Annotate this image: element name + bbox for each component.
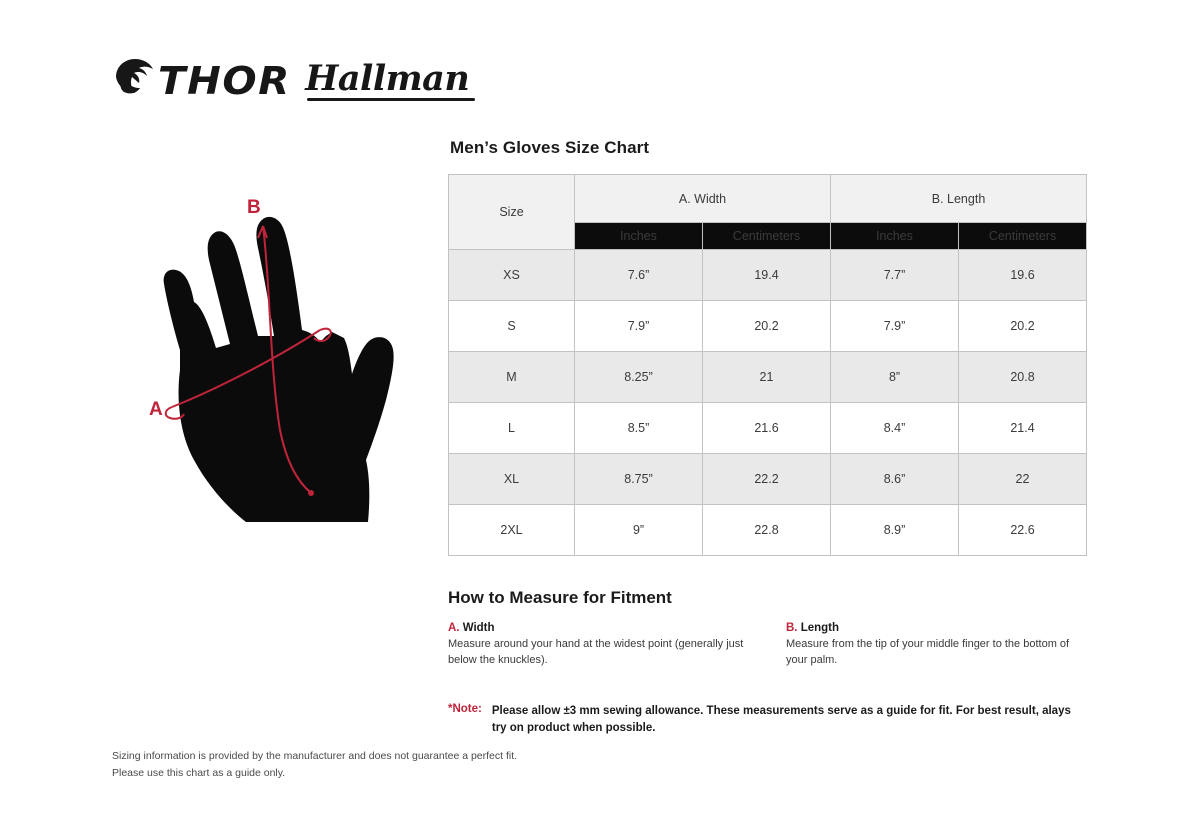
cell-width-centimeters: 22.8 xyxy=(703,505,831,556)
table-row: XL 8.75” 22.2 8.6” 22 xyxy=(449,454,1087,505)
measure-length-heading: B. Length xyxy=(786,622,1088,634)
cell-length-centimeters: 22.6 xyxy=(959,505,1087,556)
cell-length-centimeters: 22 xyxy=(959,454,1087,505)
cell-width-centimeters: 22.2 xyxy=(703,454,831,505)
cell-size: M xyxy=(449,352,575,403)
column-header-length-inches: Inches xyxy=(831,223,959,250)
cell-width-inches: 9” xyxy=(575,505,703,556)
cell-size: XL xyxy=(449,454,575,505)
disclaimer-line-2: Please use this chart as a guide only. xyxy=(112,765,632,782)
cell-width-inches: 8.25” xyxy=(575,352,703,403)
measure-length-letter: B. xyxy=(786,622,798,634)
cell-width-centimeters: 21 xyxy=(703,352,831,403)
cell-length-inches: 8.6” xyxy=(831,454,959,505)
table-row: S 7.9” 20.2 7.9” 20.2 xyxy=(449,301,1087,352)
cell-length-centimeters: 20.8 xyxy=(959,352,1087,403)
cell-size: L xyxy=(449,403,575,454)
cell-length-inches: 8” xyxy=(831,352,959,403)
label-a: A xyxy=(149,399,163,420)
column-header-size: Size xyxy=(449,175,575,250)
column-header-width: A. Width xyxy=(575,175,831,223)
measure-length-description: Measure from the tip of your middle fing… xyxy=(786,637,1088,668)
measure-length-label: Length xyxy=(798,622,840,634)
table-header: Size A. Width B. Length Inches Centimete… xyxy=(449,175,1087,250)
column-header-width-inches: Inches xyxy=(575,223,703,250)
cell-width-centimeters: 19.4 xyxy=(703,250,831,301)
column-header-length-centimeters: Centimeters xyxy=(959,223,1087,250)
table-row: 2XL 9” 22.8 8.9” 22.6 xyxy=(449,505,1087,556)
thor-wordmark: THOR xyxy=(158,62,291,100)
measure-width-heading: A. Width xyxy=(448,622,750,634)
cell-size: XS xyxy=(449,250,575,301)
cell-size: S xyxy=(449,301,575,352)
page-title: Men’s Gloves Size Chart xyxy=(450,138,1088,158)
label-b: B xyxy=(247,197,261,218)
cell-length-centimeters: 20.2 xyxy=(959,301,1087,352)
cell-width-centimeters: 20.2 xyxy=(703,301,831,352)
cell-width-inches: 8.75” xyxy=(575,454,703,505)
cell-width-centimeters: 21.6 xyxy=(703,403,831,454)
note-block: *Note: Please allow ±3 mm sewing allowan… xyxy=(448,703,1078,736)
cell-length-inches: 7.7” xyxy=(831,250,959,301)
thor-logo: THOR xyxy=(110,56,283,107)
hallman-wordmark: Hallman xyxy=(305,61,469,101)
cell-width-inches: 7.9” xyxy=(575,301,703,352)
thor-helmet-icon xyxy=(110,56,156,107)
disclaimer-line-1: Sizing information is provided by the ma… xyxy=(112,748,632,765)
how-to-measure-title: How to Measure for Fitment xyxy=(448,588,1088,608)
measure-length-block: B. Length Measure from the tip of your m… xyxy=(786,622,1088,668)
measure-width-letter: A. xyxy=(448,622,460,634)
note-text: Please allow ±3 mm sewing allowance. The… xyxy=(492,703,1078,736)
cell-length-inches: 8.4” xyxy=(831,403,959,454)
disclaimer: Sizing information is provided by the ma… xyxy=(112,748,632,782)
column-header-width-centimeters: Centimeters xyxy=(703,223,831,250)
column-header-length: B. Length xyxy=(831,175,1087,223)
cell-width-inches: 8.5” xyxy=(575,403,703,454)
size-chart-panel: Men’s Gloves Size Chart Size A. Width B.… xyxy=(448,138,1088,556)
measure-width-block: A. Width Measure around your hand at the… xyxy=(448,622,750,668)
hand-measurement-diagram: A B xyxy=(120,160,440,540)
table-row: M 8.25” 21 8” 20.8 xyxy=(449,352,1087,403)
measure-width-label: Width xyxy=(460,622,495,634)
cell-width-inches: 7.6” xyxy=(575,250,703,301)
table-body: XS 7.6” 19.4 7.7” 19.6 S 7.9” 20.2 7.9” … xyxy=(449,250,1087,556)
cell-size: 2XL xyxy=(449,505,575,556)
measure-width-description: Measure around your hand at the widest p… xyxy=(448,637,750,668)
hand-silhouette xyxy=(164,217,394,522)
note-label: *Note: xyxy=(448,703,482,715)
how-to-measure-section: How to Measure for Fitment A. Width Meas… xyxy=(448,588,1088,668)
cell-length-inches: 8.9” xyxy=(831,505,959,556)
size-chart-table: Size A. Width B. Length Inches Centimete… xyxy=(448,174,1087,556)
brand-logo-bar: THOR Hallman xyxy=(110,50,470,112)
table-row: XS 7.6” 19.4 7.7” 19.6 xyxy=(449,250,1087,301)
cell-length-centimeters: 19.6 xyxy=(959,250,1087,301)
cell-length-inches: 7.9” xyxy=(831,301,959,352)
cell-length-centimeters: 21.4 xyxy=(959,403,1087,454)
table-row: L 8.5” 21.6 8.4” 21.4 xyxy=(449,403,1087,454)
